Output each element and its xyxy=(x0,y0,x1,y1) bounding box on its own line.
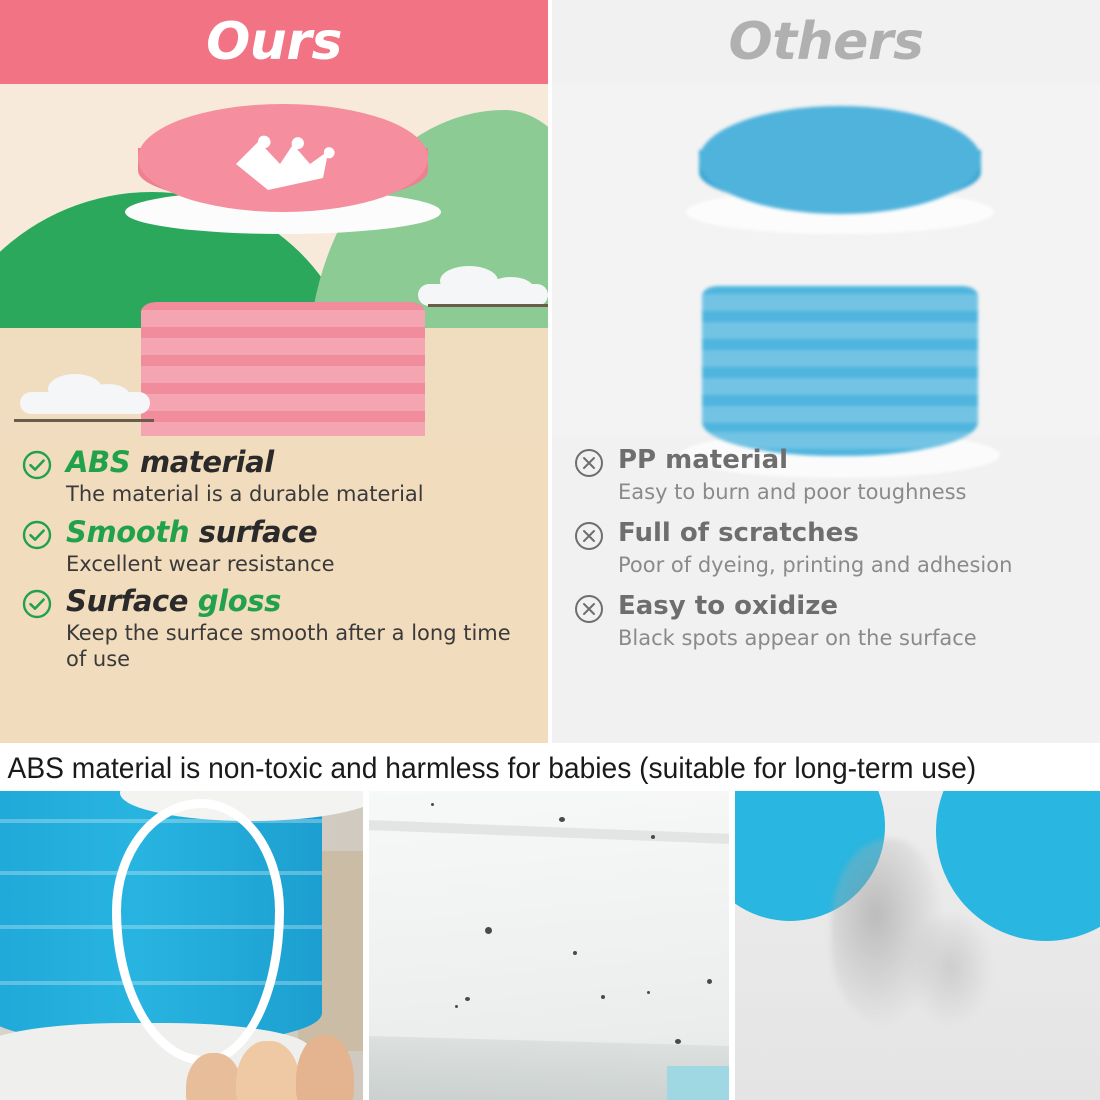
header-others: Others xyxy=(552,0,1100,84)
feature-subtitle: Excellent wear resistance xyxy=(66,552,530,578)
potty-rib xyxy=(141,394,425,411)
blue-collapsible-potty xyxy=(680,106,1000,478)
feature-title-emphasis: Smooth xyxy=(66,515,189,549)
feature-text: Smooth surface Excellent wear resistance xyxy=(66,516,548,578)
drawback-text: Full of scratches Poor of dyeing, printi… xyxy=(618,519,1100,578)
feature-title-rest: Surface xyxy=(66,584,188,618)
header-ours-label: Ours xyxy=(206,12,342,72)
drawback-item: PP material Easy to burn and poor toughn… xyxy=(574,446,1100,505)
drawback-title: Easy to oxidize xyxy=(618,592,1082,622)
feature-title-rest: surface xyxy=(199,515,317,549)
surface-blemish-photo xyxy=(735,791,1100,1100)
potty-lid xyxy=(138,104,428,212)
potty-lid xyxy=(699,106,981,214)
drawback-text: Easy to oxidize Black spots appear on th… xyxy=(618,592,1100,651)
header-row: Ours Others xyxy=(0,0,1100,84)
ours-product-scene xyxy=(0,84,548,436)
feature-title-emphasis: ABS xyxy=(66,445,130,479)
drawback-text: PP material Easy to burn and poor toughn… xyxy=(618,446,1100,505)
potty-rib xyxy=(702,294,977,311)
potty-rib xyxy=(141,366,425,383)
feature-title-emphasis: gloss xyxy=(198,584,281,618)
drawback-subtitle: Easy to burn and poor toughness xyxy=(618,480,1082,505)
check-circle-icon xyxy=(22,589,52,619)
ours-feature-list: ABS material The material is a durable m… xyxy=(0,436,548,681)
drawback-subtitle: Poor of dyeing, printing and adhesion xyxy=(618,553,1082,578)
ground-line xyxy=(14,419,154,422)
blue-bucket-crease-photo xyxy=(0,791,363,1100)
feature-subtitle: Keep the surface smooth after a long tim… xyxy=(66,621,530,672)
decorative-cloud xyxy=(418,270,548,306)
potty-rib xyxy=(141,338,425,355)
drawback-title: Full of scratches xyxy=(618,519,1082,549)
feature-subtitle: The material is a durable material xyxy=(66,482,530,508)
potty-rib xyxy=(141,422,425,436)
feature-text: Surface gloss Keep the surface smooth af… xyxy=(66,585,548,672)
cross-circle-icon xyxy=(574,594,604,624)
potty-rib xyxy=(141,310,425,327)
feature-text: ABS material The material is a durable m… xyxy=(66,446,548,508)
header-ours: Ours xyxy=(0,0,548,84)
comparison-infographic: Ours Others xyxy=(0,0,1100,1100)
feature-title-rest: material xyxy=(140,445,274,479)
drawback-title: PP material xyxy=(618,446,1082,476)
potty-body xyxy=(141,302,425,436)
caption-bar: ABS material is non-toxic and harmless f… xyxy=(0,747,1100,791)
drawback-item: Easy to oxidize Black spots appear on th… xyxy=(574,592,1100,651)
feature-item: ABS material The material is a durable m… xyxy=(22,446,548,508)
potty-body xyxy=(702,286,977,456)
potty-rib xyxy=(702,350,977,367)
caption-text: ABS material is non-toxic and harmless f… xyxy=(0,752,976,786)
feature-title: Smooth surface xyxy=(66,516,530,549)
surface-blemish-mark xyxy=(907,917,993,1027)
drawback-subtitle: Black spots appear on the surface xyxy=(618,626,1082,651)
feature-title: Surface gloss xyxy=(66,585,530,618)
feature-title: ABS material xyxy=(66,446,530,479)
feature-item: Smooth surface Excellent wear resistance xyxy=(22,516,548,578)
comparison-columns: ABS material The material is a durable m… xyxy=(0,84,1100,743)
cross-circle-icon xyxy=(574,448,604,478)
crown-emblem-icon xyxy=(228,134,338,196)
potty-rib xyxy=(702,322,977,339)
black-spots-surface-photo xyxy=(369,791,728,1100)
drawback-item: Full of scratches Poor of dyeing, printi… xyxy=(574,519,1100,578)
cross-circle-icon xyxy=(574,521,604,551)
photo-strip xyxy=(0,791,1100,1100)
others-feature-list: PP material Easy to burn and poor toughn… xyxy=(552,436,1100,665)
decorative-line xyxy=(428,304,548,307)
potty-rib xyxy=(702,406,977,423)
ours-column: ABS material The material is a durable m… xyxy=(0,84,548,743)
teal-edge xyxy=(667,1066,729,1100)
header-others-label: Others xyxy=(729,12,924,72)
check-circle-icon xyxy=(22,450,52,480)
others-column: PP material Easy to burn and poor toughn… xyxy=(552,84,1100,743)
feature-item: Surface gloss Keep the surface smooth af… xyxy=(22,585,548,672)
check-circle-icon xyxy=(22,520,52,550)
others-product-scene xyxy=(552,84,1100,436)
potty-rib xyxy=(702,378,977,395)
cloud-shape xyxy=(20,380,150,414)
pink-collapsible-potty xyxy=(118,104,448,436)
